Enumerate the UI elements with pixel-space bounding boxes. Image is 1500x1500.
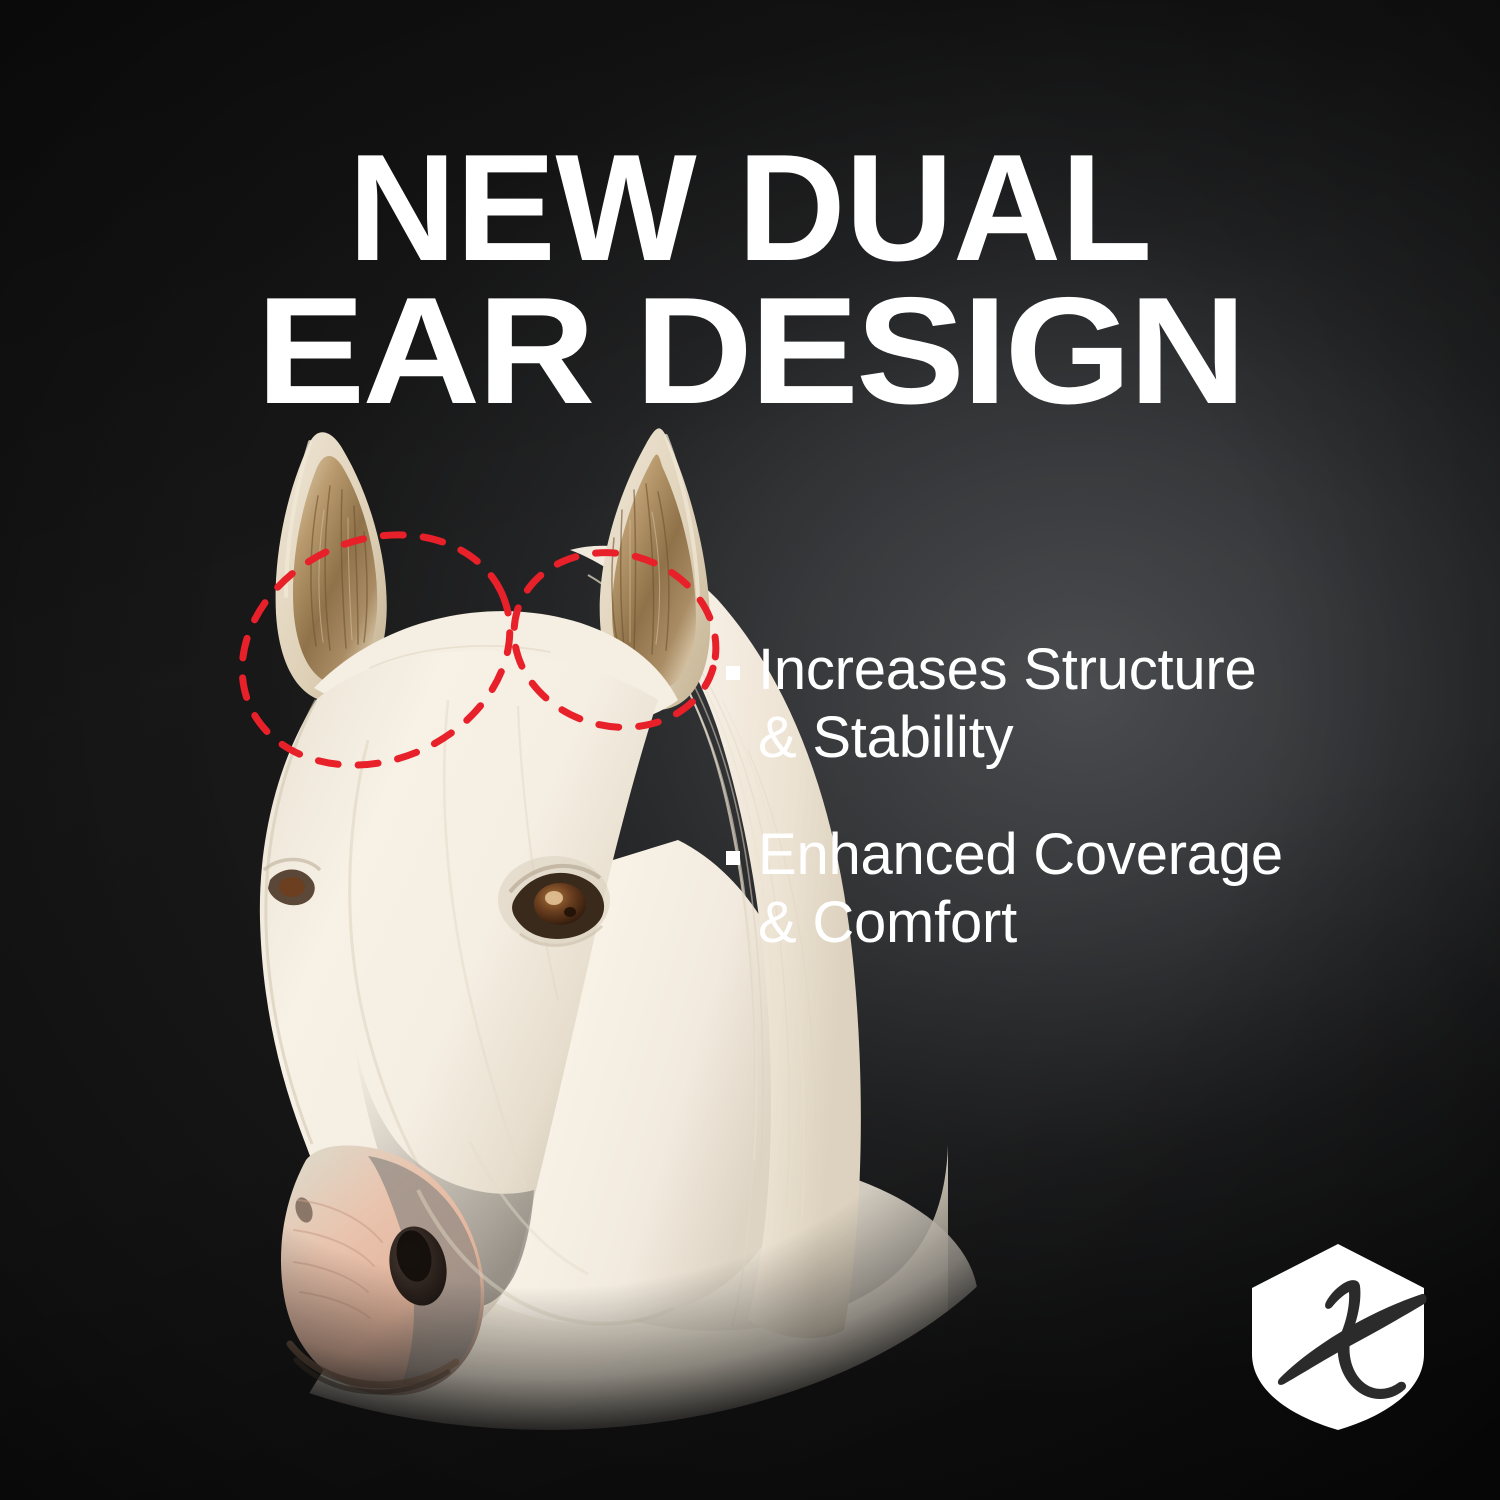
brand-logo [1246, 1242, 1430, 1432]
feature-label: Enhanced Coverage & Comfort [758, 821, 1283, 958]
feature-label: Increases Structure & Stability [758, 636, 1256, 773]
feature-list: Increases Structure & Stability Enhanced… [726, 636, 1416, 958]
bullet-square-icon [726, 666, 740, 680]
list-item: Increases Structure & Stability [726, 636, 1416, 773]
ad-creative-canvas: NEW DUAL EAR DESIGN Increases Structure … [0, 0, 1500, 1500]
bullet-square-icon [726, 851, 740, 865]
list-item: Enhanced Coverage & Comfort [726, 821, 1416, 958]
